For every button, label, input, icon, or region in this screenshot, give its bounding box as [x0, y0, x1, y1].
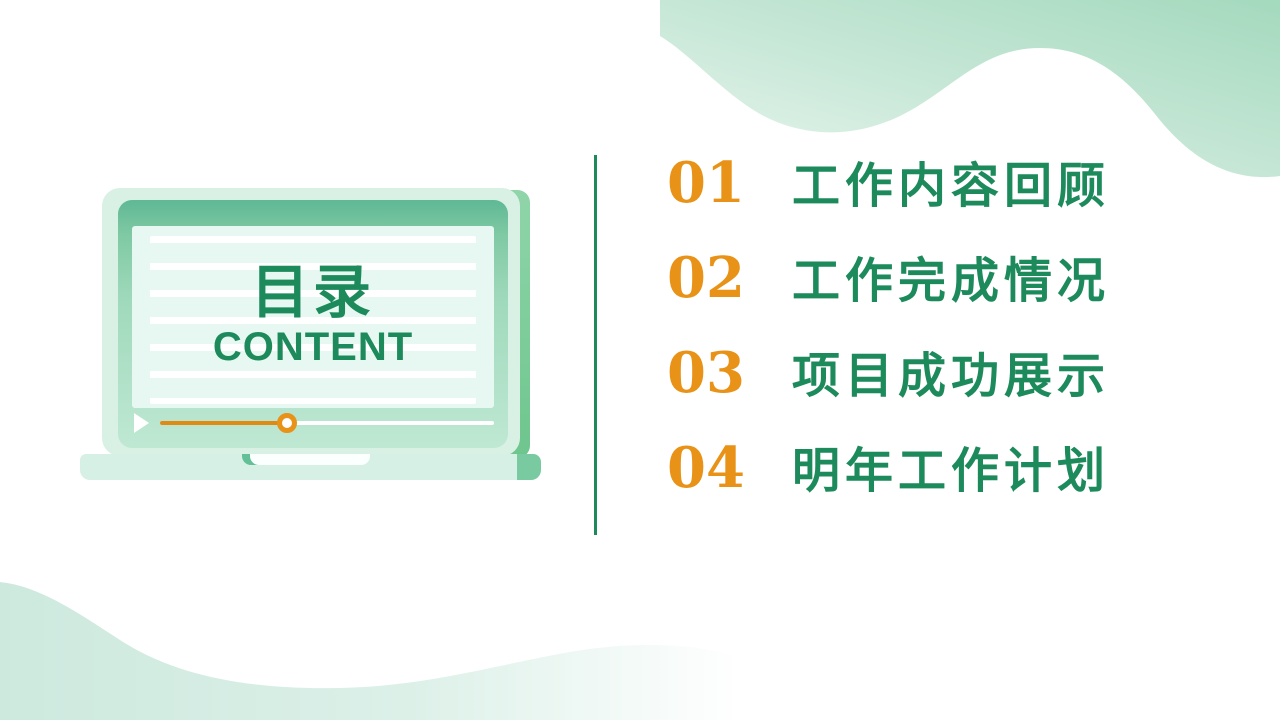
laptop-illustration: 目录 CONTENT	[80, 182, 555, 482]
toc-label: 工作完成情况	[792, 258, 1110, 306]
toc-row[interactable]: 03项目成功展示	[667, 345, 1110, 440]
toc-row[interactable]: 02工作完成情况	[667, 250, 1110, 345]
bottom-left-wave-decoration	[0, 540, 740, 720]
toc-items: 01工作内容回顾02工作完成情况03项目成功展示04明年工作计划	[667, 155, 1110, 535]
contents-list: 01工作内容回顾02工作完成情况03项目成功展示04明年工作计划	[594, 155, 1110, 535]
laptop-screen: 目录 CONTENT	[132, 226, 494, 408]
toc-number: 03	[667, 345, 792, 401]
vertical-divider	[594, 155, 597, 535]
screen-title-block: 目录 CONTENT	[132, 262, 494, 369]
toc-number: 04	[667, 440, 792, 496]
laptop-bezel: 目录 CONTENT	[118, 200, 508, 448]
play-icon[interactable]	[134, 413, 149, 433]
progress-track[interactable]	[160, 421, 494, 425]
laptop-base-side	[517, 454, 541, 480]
video-progress-bar[interactable]	[134, 412, 494, 434]
toc-row[interactable]: 04明年工作计划	[667, 440, 1110, 535]
progress-fill	[160, 421, 287, 425]
toc-number: 01	[667, 155, 792, 211]
screen-title: 目录	[132, 262, 494, 323]
toc-label: 明年工作计划	[792, 448, 1110, 496]
screen-subtitle: CONTENT	[132, 325, 494, 369]
toc-row[interactable]: 01工作内容回顾	[667, 155, 1110, 250]
toc-label: 工作内容回顾	[792, 163, 1110, 211]
toc-label: 项目成功展示	[792, 353, 1110, 401]
progress-handle[interactable]	[277, 413, 297, 433]
toc-number: 02	[667, 250, 792, 306]
slide-canvas: 目录 CONTENT 01工作内容回顾02工作完成情况03项目成功展示04明年工…	[0, 0, 1280, 720]
laptop-trackpad-notch	[250, 454, 370, 465]
